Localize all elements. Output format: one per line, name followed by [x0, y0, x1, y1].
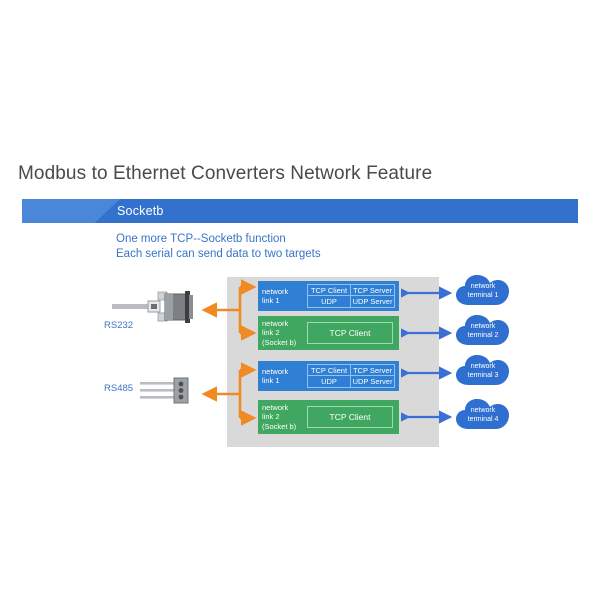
network-link-box-4[interactable]: network link 2 (Socket b) TCP Client — [258, 400, 399, 434]
protocol-cell: UDP Server — [351, 296, 394, 307]
section-banner: Socketb — [22, 199, 578, 223]
caption-line-1: One more TCP--Socketb function — [116, 232, 321, 247]
network-link-box-2-label: network link 2 (Socket b) — [259, 317, 307, 349]
page-title: Modbus to Ethernet Converters Network Fe… — [18, 163, 432, 185]
rs485-connector-icon — [140, 376, 198, 406]
link-title-line2: link 1 — [262, 296, 304, 306]
link-title-line1: network — [262, 367, 304, 377]
network-link-box-3-label: network link 1 — [259, 362, 307, 390]
serial-branch-connector-1 — [198, 275, 260, 345]
link-title-line2: link 2 — [262, 328, 304, 338]
protocol-cell: UDP — [308, 376, 351, 387]
link-title-line3: (Socket b) — [262, 422, 304, 432]
network-terminal-4[interactable]: network terminal 4 — [455, 398, 511, 432]
cloud-icon — [455, 314, 511, 348]
cloud-icon — [455, 274, 511, 308]
caption-line-2: Each serial can send data to two targets — [116, 247, 321, 262]
link-title-line1: network — [262, 287, 304, 297]
caption-block: One more TCP--Socketb function Each seri… — [116, 232, 321, 262]
network-link-box-2[interactable]: network link 2 (Socket b) TCP Client — [258, 316, 399, 350]
protocol-cell: TCP Server — [351, 365, 394, 376]
network-link-box-4-label: network link 2 (Socket b) — [259, 401, 307, 433]
network-link-box-1[interactable]: network link 1 TCP Client TCP Server UDP… — [258, 281, 399, 311]
network-link-box-1-label: network link 1 — [259, 282, 307, 310]
protocol-cell: UDP — [308, 296, 351, 307]
serial-branch-connector-2 — [198, 357, 260, 429]
link-terminal-arrow-3 — [401, 366, 457, 380]
protocol-cell: UDP Server — [351, 376, 394, 387]
network-terminal-2[interactable]: network terminal 2 — [455, 314, 511, 348]
protocol-grid-1: TCP Client TCP Server UDP UDP Server — [307, 284, 395, 308]
network-terminal-1[interactable]: network terminal 1 — [455, 274, 511, 308]
link-title-line1: network — [262, 403, 304, 413]
rs485-label: RS485 — [104, 383, 133, 394]
link-title-line2: link 1 — [262, 376, 304, 386]
rs232-label: RS232 — [104, 320, 133, 331]
link-title-line3: (Socket b) — [262, 338, 304, 348]
link-terminal-arrow-4 — [401, 410, 457, 424]
cloud-icon — [455, 398, 511, 432]
link-terminal-arrow-1 — [401, 286, 457, 300]
protocol-pill-4: TCP Client — [307, 406, 393, 428]
protocol-grid-3: TCP Client TCP Server UDP UDP Server — [307, 364, 395, 388]
protocol-cell: TCP Client — [308, 285, 351, 296]
banner-title: Socketb — [117, 199, 164, 223]
network-terminal-3[interactable]: network terminal 3 — [455, 354, 511, 388]
protocol-cell: TCP Server — [351, 285, 394, 296]
protocol-cell: TCP Client — [308, 365, 351, 376]
network-link-box-3[interactable]: network link 1 TCP Client TCP Server UDP… — [258, 361, 399, 391]
link-terminal-arrow-2 — [401, 326, 457, 340]
cloud-icon — [455, 354, 511, 388]
protocol-pill-2: TCP Client — [307, 322, 393, 344]
link-title-line2: link 2 — [262, 412, 304, 422]
link-title-line1: network — [262, 319, 304, 329]
